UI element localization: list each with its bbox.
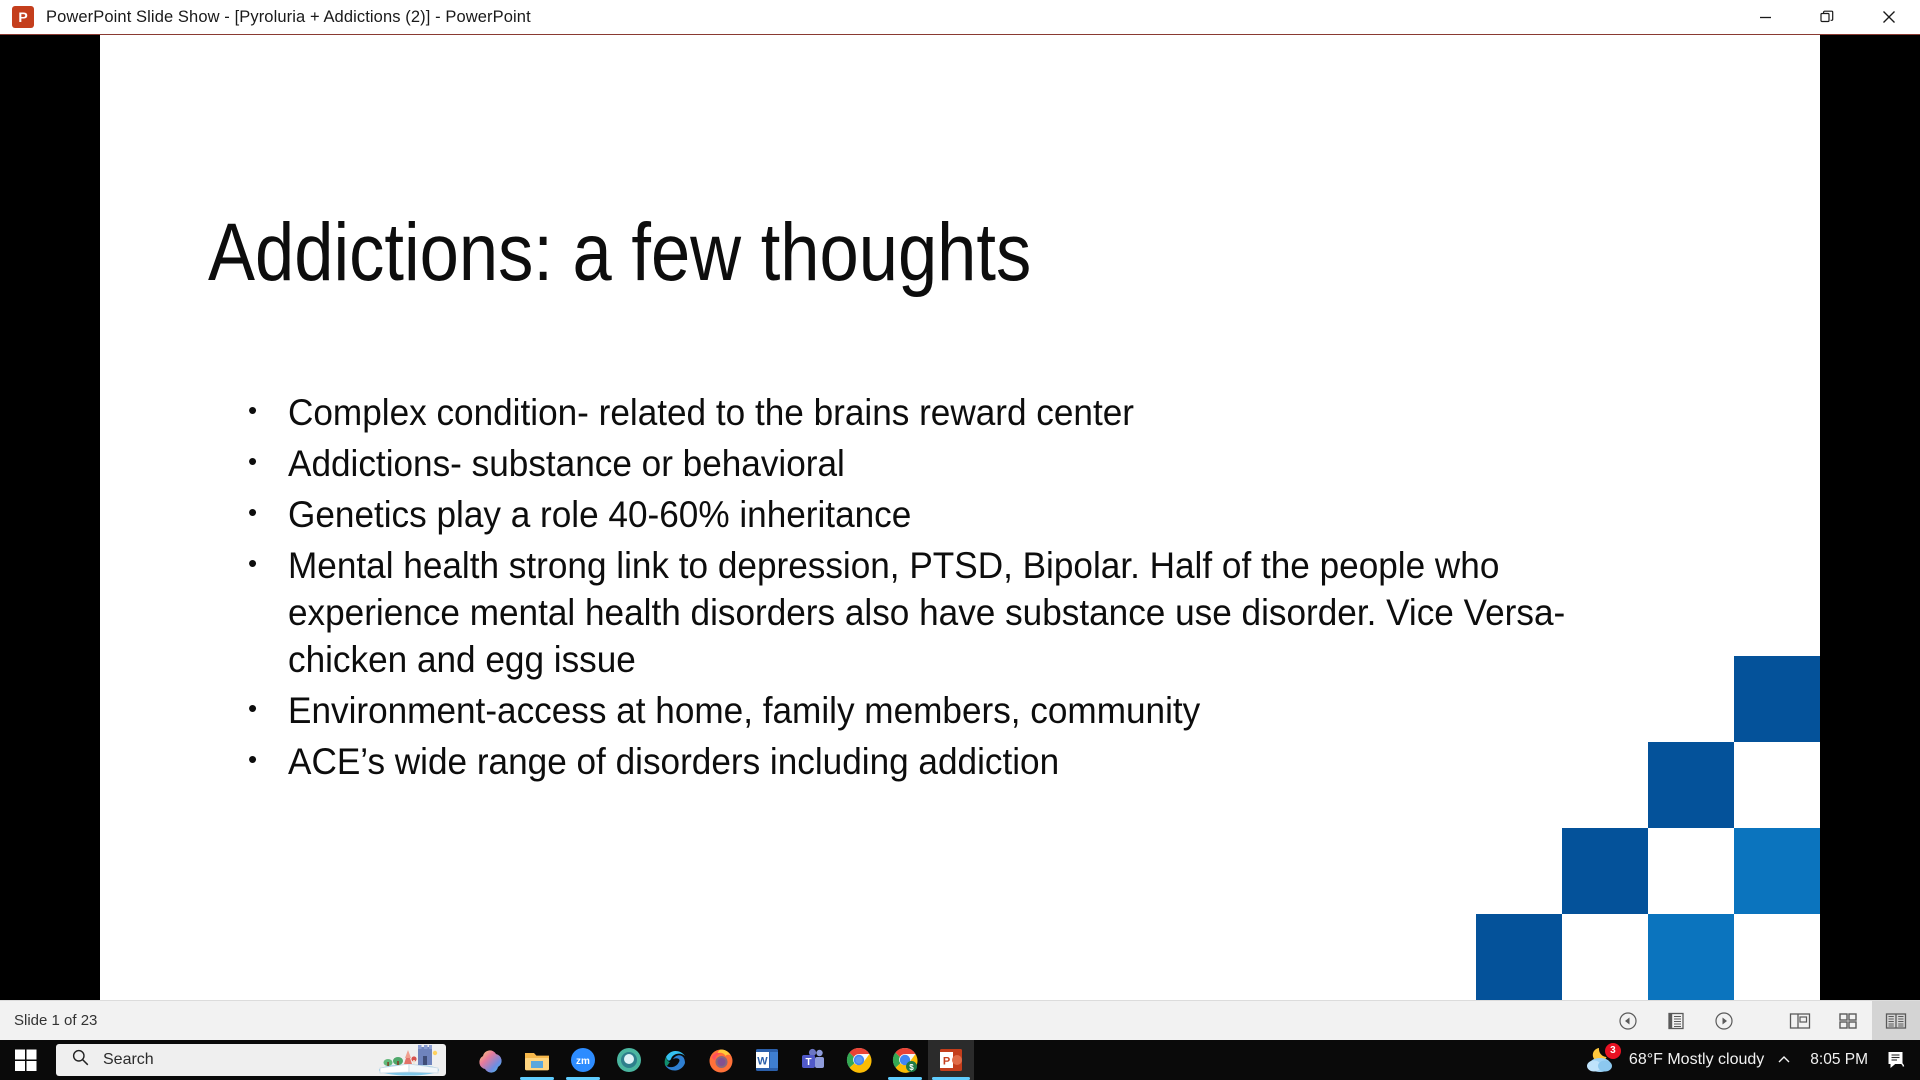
restore-button[interactable] [1796, 0, 1858, 35]
powerpoint-app-icon: P [12, 6, 34, 28]
svg-text:zm: zm [576, 1056, 590, 1067]
taskbar-item-copilot[interactable] [468, 1040, 514, 1080]
list-item: • Complex condition- related to the brai… [240, 390, 1690, 437]
svg-text:P: P [943, 1056, 950, 1068]
microsoft-edge-icon [661, 1046, 689, 1074]
window-title: PowerPoint Slide Show - [Pyroluria + Add… [46, 8, 531, 27]
search-illustration-icon [374, 1044, 444, 1076]
weather-text: 68°F Mostly cloudy [1629, 1051, 1764, 1069]
bullet-marker-icon: • [240, 688, 288, 735]
list-item: • Addictions- substance or behavioral [240, 441, 1690, 488]
bullet-marker-icon: • [240, 739, 288, 786]
close-button[interactable] [1858, 0, 1920, 35]
decoration-square [1734, 828, 1820, 914]
slide-counter: Slide 1 of 23 [14, 1012, 97, 1029]
taskbar-item-microsoft-teams[interactable]: T [790, 1040, 836, 1080]
slide-canvas[interactable]: Addictions: a few thoughts • Complex con… [100, 35, 1820, 1000]
microsoft-powerpoint-icon: P [937, 1046, 965, 1074]
bullet-text: ACE’s wide range of disorders including … [288, 739, 1620, 786]
bullet-text: Mental health strong link to depression,… [288, 543, 1620, 684]
decoration-square [1562, 828, 1648, 914]
chevron-up-icon[interactable] [1764, 1040, 1804, 1080]
window-title-bar: P PowerPoint Slide Show - [Pyroluria + A… [0, 0, 1920, 35]
bullet-text: Environment-access at home, family membe… [288, 688, 1620, 735]
next-slide-icon[interactable] [1700, 1001, 1748, 1041]
svg-text:W: W [757, 1056, 768, 1068]
decoration-square [1476, 914, 1562, 1000]
slideshow-letterbox: Addictions: a few thoughts • Complex con… [0, 35, 1920, 1000]
file-explorer-icon [523, 1046, 551, 1074]
svg-text:$: $ [909, 1063, 914, 1072]
powerpoint-status-bar: Slide 1 of 23 [0, 1000, 1920, 1040]
bullet-marker-icon: • [240, 492, 288, 539]
weather-widget[interactable]: 3 68°F Mostly cloudy [1585, 1045, 1764, 1075]
google-chrome-icon [845, 1046, 873, 1074]
taskbar-item-file-explorer[interactable] [514, 1040, 560, 1080]
list-item: • Environment-access at home, family mem… [240, 688, 1690, 735]
taskbar-item-zoom[interactable]: zm [560, 1040, 606, 1080]
taskbar-item-microsoft-powerpoint[interactable]: P [928, 1040, 974, 1080]
taskbar-app-list: zm [468, 1040, 974, 1080]
taskbar-item-microsoft-edge[interactable] [652, 1040, 698, 1080]
bullet-text: Addictions- substance or behavioral [288, 441, 1620, 488]
system-tray: 3 68°F Mostly cloudy 8:05 PM [1585, 1040, 1920, 1080]
taskbar-item-google-chrome[interactable] [836, 1040, 882, 1080]
notification-center-icon[interactable] [1874, 1040, 1920, 1080]
slide-bullet-list: • Complex condition- related to the brai… [240, 390, 1690, 790]
search-input[interactable]: Search [103, 1051, 154, 1069]
list-item: • Mental health strong link to depressio… [240, 543, 1690, 684]
taskbar-item-microsoft-word[interactable]: W [744, 1040, 790, 1080]
microsoft-word-icon: W [753, 1046, 781, 1074]
notes-view-icon[interactable] [1652, 1001, 1700, 1041]
firefox-icon [707, 1046, 735, 1074]
blue-square-staircase-decoration [1476, 656, 1820, 1000]
windows-taskbar: Search [0, 1040, 1920, 1080]
slide-title: Addictions: a few thoughts [208, 210, 1412, 296]
bullet-text: Genetics play a role 40-60% inheritance [288, 492, 1620, 539]
taskbar-item-firefox[interactable] [698, 1040, 744, 1080]
weather-notification-badge: 3 [1605, 1043, 1621, 1059]
bullet-marker-icon: • [240, 543, 288, 684]
bullet-marker-icon: • [240, 390, 288, 437]
teal-app-icon [615, 1046, 643, 1074]
previous-slide-icon[interactable] [1604, 1001, 1652, 1041]
taskbar-item-teal-app[interactable] [606, 1040, 652, 1080]
svg-text:T: T [805, 1057, 811, 1068]
normal-view-icon[interactable] [1776, 1001, 1824, 1041]
taskbar-search-box[interactable]: Search [56, 1044, 446, 1076]
minimize-button[interactable] [1734, 0, 1796, 35]
copilot-icon [477, 1046, 505, 1074]
window-controls [1734, 0, 1920, 35]
decoration-square [1648, 914, 1734, 1000]
search-icon [72, 1049, 89, 1071]
system-clock[interactable]: 8:05 PM [1810, 1051, 1868, 1069]
decoration-square [1648, 742, 1734, 828]
view-controls [1604, 1001, 1920, 1041]
bullet-marker-icon: • [240, 441, 288, 488]
taskbar-item-google-chrome-profile[interactable]: $ [882, 1040, 928, 1080]
microsoft-teams-icon: T [799, 1046, 827, 1074]
start-button[interactable] [0, 1040, 52, 1080]
slide-sorter-view-icon[interactable] [1824, 1001, 1872, 1041]
list-item: • ACE’s wide range of disorders includin… [240, 739, 1690, 786]
night-cloud-icon: 3 [1585, 1045, 1619, 1075]
bullet-text: Complex condition- related to the brains… [288, 390, 1620, 437]
decoration-square [1734, 656, 1820, 742]
zoom-icon: zm [569, 1046, 597, 1074]
list-item: • Genetics play a role 40-60% inheritanc… [240, 492, 1690, 539]
reading-view-icon[interactable] [1872, 1001, 1920, 1041]
google-chrome-profile-icon: $ [891, 1046, 919, 1074]
